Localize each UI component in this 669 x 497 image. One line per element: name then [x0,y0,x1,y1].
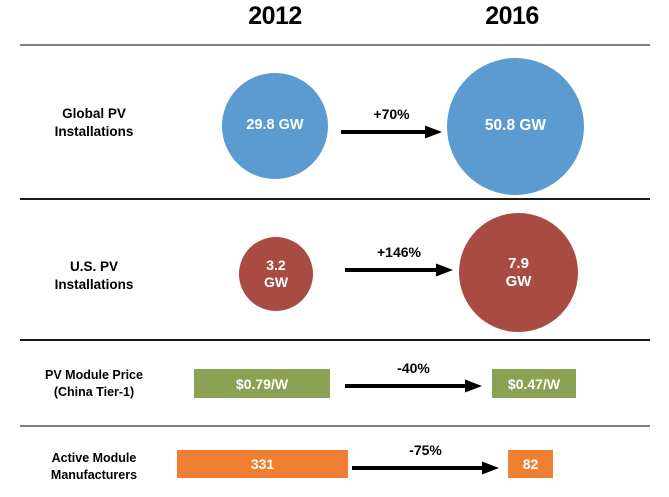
row-label-line-2: (China Tier-1) [8,384,180,401]
change-arrow-pv-module-price: -40% [345,379,482,393]
row-label-line-2: Installations [14,276,174,294]
arrow-right-icon [345,263,453,277]
separator-row-1 [20,198,650,200]
arrow-right-icon [345,379,482,393]
bar-value: $0.79/W [236,376,288,392]
row-label-line-2: Installations [14,123,174,141]
bubble-global-pv-2016: 50.8 GW [447,58,584,195]
row-label-line-2: Manufacturers [14,467,174,484]
column-header-2016: 2016 [452,2,572,31]
separator-top [20,44,650,46]
row-label-active-module-manufacturers: Active Module Manufacturers [14,450,174,484]
row-label-line-1: Active Module [14,450,174,467]
change-label-pv-module-price: -40% [345,360,482,376]
change-arrow-global-pv: +70% [341,125,442,139]
arrow-right-icon [341,125,442,139]
row-label-line-1: Global PV [14,105,174,123]
change-arrow-active-manufacturers: -75% [352,461,499,475]
bubble-value: 50.8 GW [485,117,546,135]
separator-row-3 [20,425,650,427]
change-label-global-pv: +70% [341,106,442,122]
bar-value: 331 [251,456,274,472]
bubble-value: 29.8 GW [246,117,303,134]
bubble-us-pv-2012: 3.2 GW [239,237,313,311]
separator-row-2 [20,339,650,341]
row-label-pv-module-price: PV Module Price (China Tier-1) [8,367,180,401]
change-arrow-us-pv: +146% [345,263,453,277]
change-label-us-pv: +146% [345,244,453,260]
bubble-global-pv-2012: 29.8 GW [222,73,328,179]
bar-pv-module-price-2016: $0.47/W [492,369,576,398]
bar-active-manufacturers-2016: 82 [508,450,553,478]
row-label-global-pv-installations: Global PV Installations [14,105,174,141]
bar-value: 82 [523,456,539,472]
bar-active-manufacturers-2012: 331 [177,450,348,478]
bar-pv-module-price-2012: $0.79/W [194,369,330,398]
column-header-2012: 2012 [215,2,335,31]
bubble-us-pv-2016: 7.9 GW [459,213,578,332]
arrow-right-icon [352,461,499,475]
bubble-value: 7.9 [506,255,532,273]
solar-metrics-infographic: 2012 2016 Global PV Installations 29.8 G… [0,0,669,497]
row-label-line-1: PV Module Price [8,367,180,384]
row-label-us-pv-installations: U.S. PV Installations [14,258,174,294]
bubble-unit: GW [264,274,288,291]
row-label-line-1: U.S. PV [14,258,174,276]
bubble-value: 3.2 [264,257,288,274]
bar-value: $0.47/W [508,376,560,392]
change-label-active-manufacturers: -75% [352,442,499,458]
bubble-unit: GW [506,273,532,291]
